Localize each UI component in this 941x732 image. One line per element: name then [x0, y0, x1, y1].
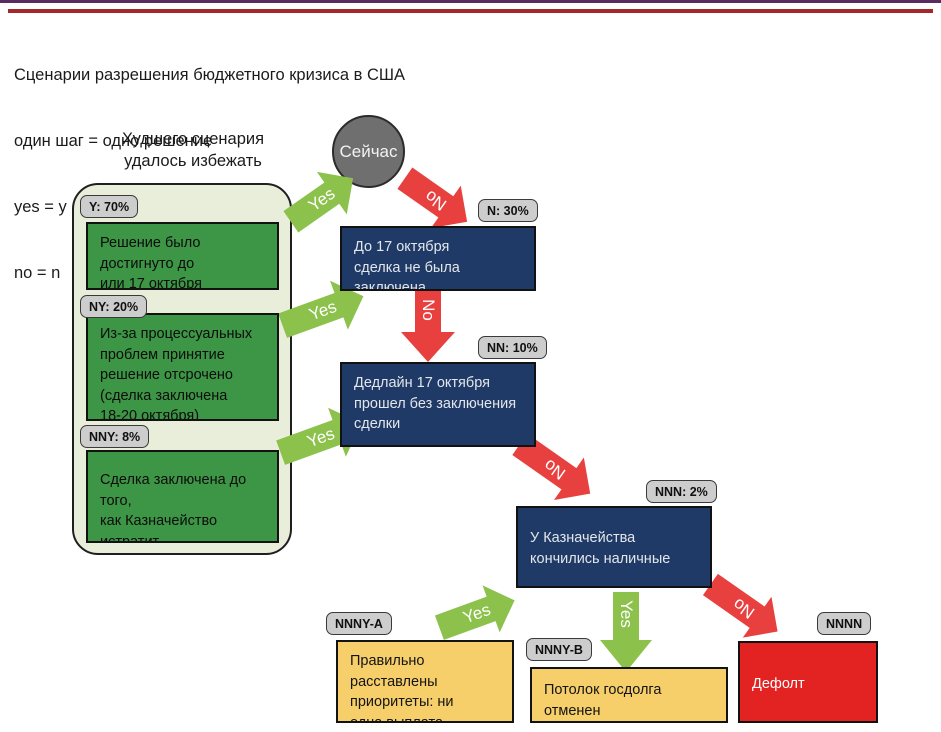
tag-NNNN: NNNN — [817, 612, 871, 635]
node-NNN[interactable]: У Казначейства кончились наличные — [516, 506, 712, 588]
node-NNNY-A[interactable]: Правильно расставлены приоритеты: ни одн… — [336, 640, 514, 723]
tag-Y: Y: 70% — [80, 195, 138, 218]
best-case-caption: Худшего сценария удалось избежать — [108, 128, 278, 172]
node-NNY[interactable]: Сделка заключена до того, как Казначейст… — [86, 450, 279, 543]
title-line-1: Сценарии разрешения бюджетного кризиса в… — [14, 64, 405, 86]
tag-NNNY-B: NNNY-B — [526, 638, 592, 661]
node-NNNN[interactable]: Дефолт — [738, 641, 878, 723]
tag-N: N: 30% — [478, 199, 538, 222]
diagram-canvas: Сценарии разрешения бюджетного кризиса в… — [0, 0, 941, 732]
tag-NNNY-A: NNNY-A — [326, 612, 392, 635]
top-red-rule — [8, 9, 933, 13]
tag-NY: NY: 20% — [80, 295, 147, 318]
arrow-yes-shape — [594, 592, 658, 672]
tag-NNN: NNN: 2% — [646, 480, 717, 503]
node-NNNY-B[interactable]: Потолок госдолга отменен — [530, 667, 728, 723]
node-Y[interactable]: Решение было достигнуто до или 17 октябр… — [86, 222, 279, 290]
node-N[interactable]: До 17 октября сделка не была заключена — [340, 226, 536, 291]
arrow-n-no: No — [395, 290, 461, 362]
tag-NN: NN: 10% — [478, 336, 547, 359]
top-purple-rule — [0, 0, 941, 3]
arrow-nnn-yes-b: Yes — [594, 592, 658, 672]
node-NY[interactable]: Из-за процессуальных проблем принятие ре… — [86, 313, 279, 421]
node-NN[interactable]: Дедлайн 17 октября прошел без заключения… — [340, 362, 536, 447]
start-node-label: Сейчас — [339, 142, 397, 162]
tag-NNY: NNY: 8% — [80, 425, 149, 448]
arrow-no-shape — [395, 290, 461, 362]
